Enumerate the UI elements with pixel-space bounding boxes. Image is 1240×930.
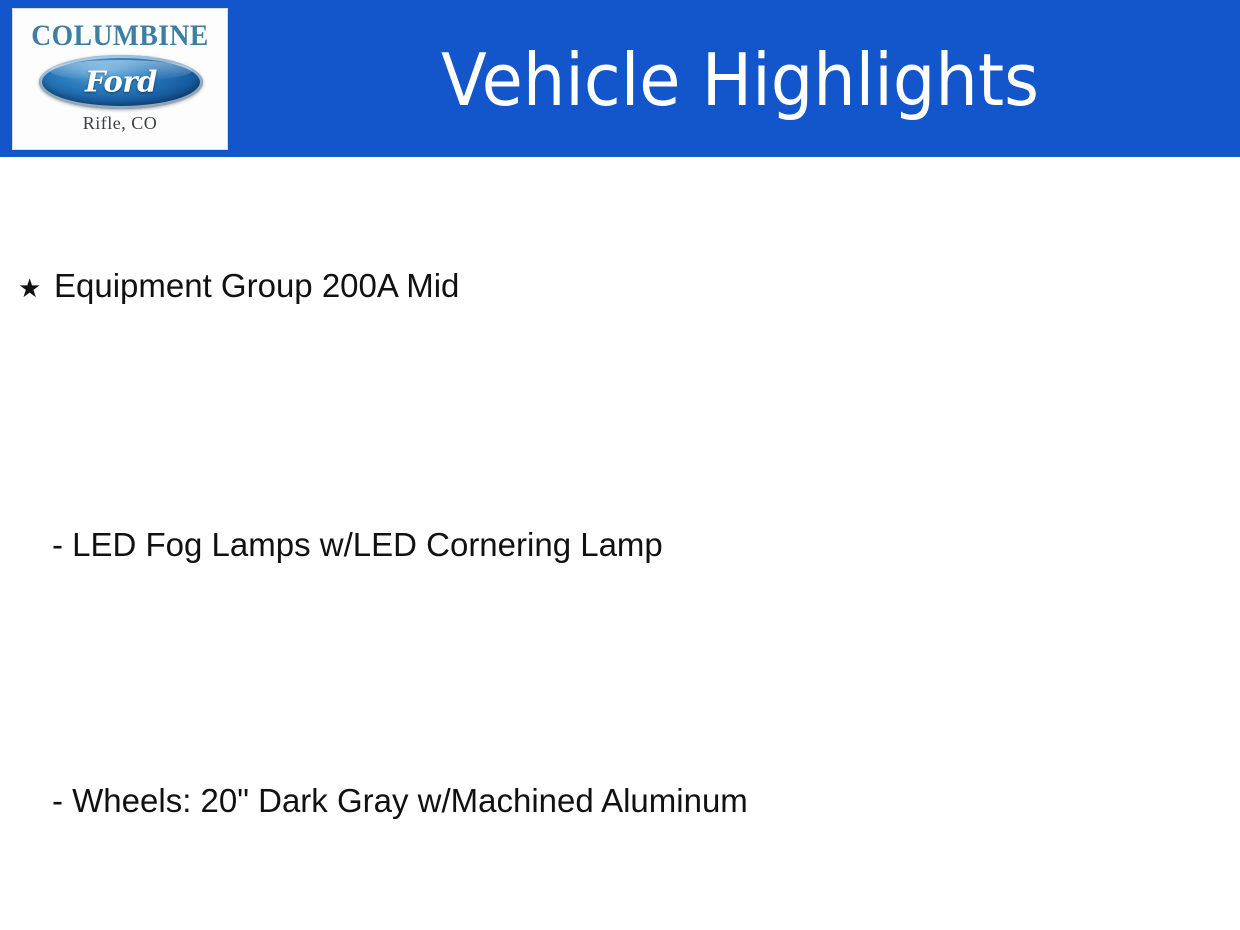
ford-oval-icon: Ford <box>39 55 203 109</box>
list-item: ★ Equipment Group 200A Mid <box>18 269 459 302</box>
dealer-logo: COLUMBINE Ford Rifle, CO <box>12 8 228 150</box>
list-item-label: Equipment Group 200A Mid <box>54 269 459 302</box>
slide-body: ★ Equipment Group 200A Mid - LED Fog Lam… <box>0 157 1240 930</box>
logo-location: Rifle, CO <box>13 113 227 134</box>
list-item: - Wheels: 20" Dark Gray w/Machined Alumi… <box>52 784 748 817</box>
logo-inner: COLUMBINE Ford Rifle, CO <box>13 9 227 149</box>
logo-brand-name: COLUMBINE <box>22 21 219 51</box>
list-item-label: - LED Fog Lamps w/LED Cornering Lamp <box>52 528 663 561</box>
list-item-label: - Wheels: 20" Dark Gray w/Machined Alumi… <box>52 784 748 817</box>
list-item: - LED Fog Lamps w/LED Cornering Lamp <box>52 528 663 561</box>
ford-wordmark: Ford <box>39 64 203 98</box>
page-title: Vehicle Highlights <box>275 28 1205 132</box>
star-icon: ★ <box>18 276 54 302</box>
